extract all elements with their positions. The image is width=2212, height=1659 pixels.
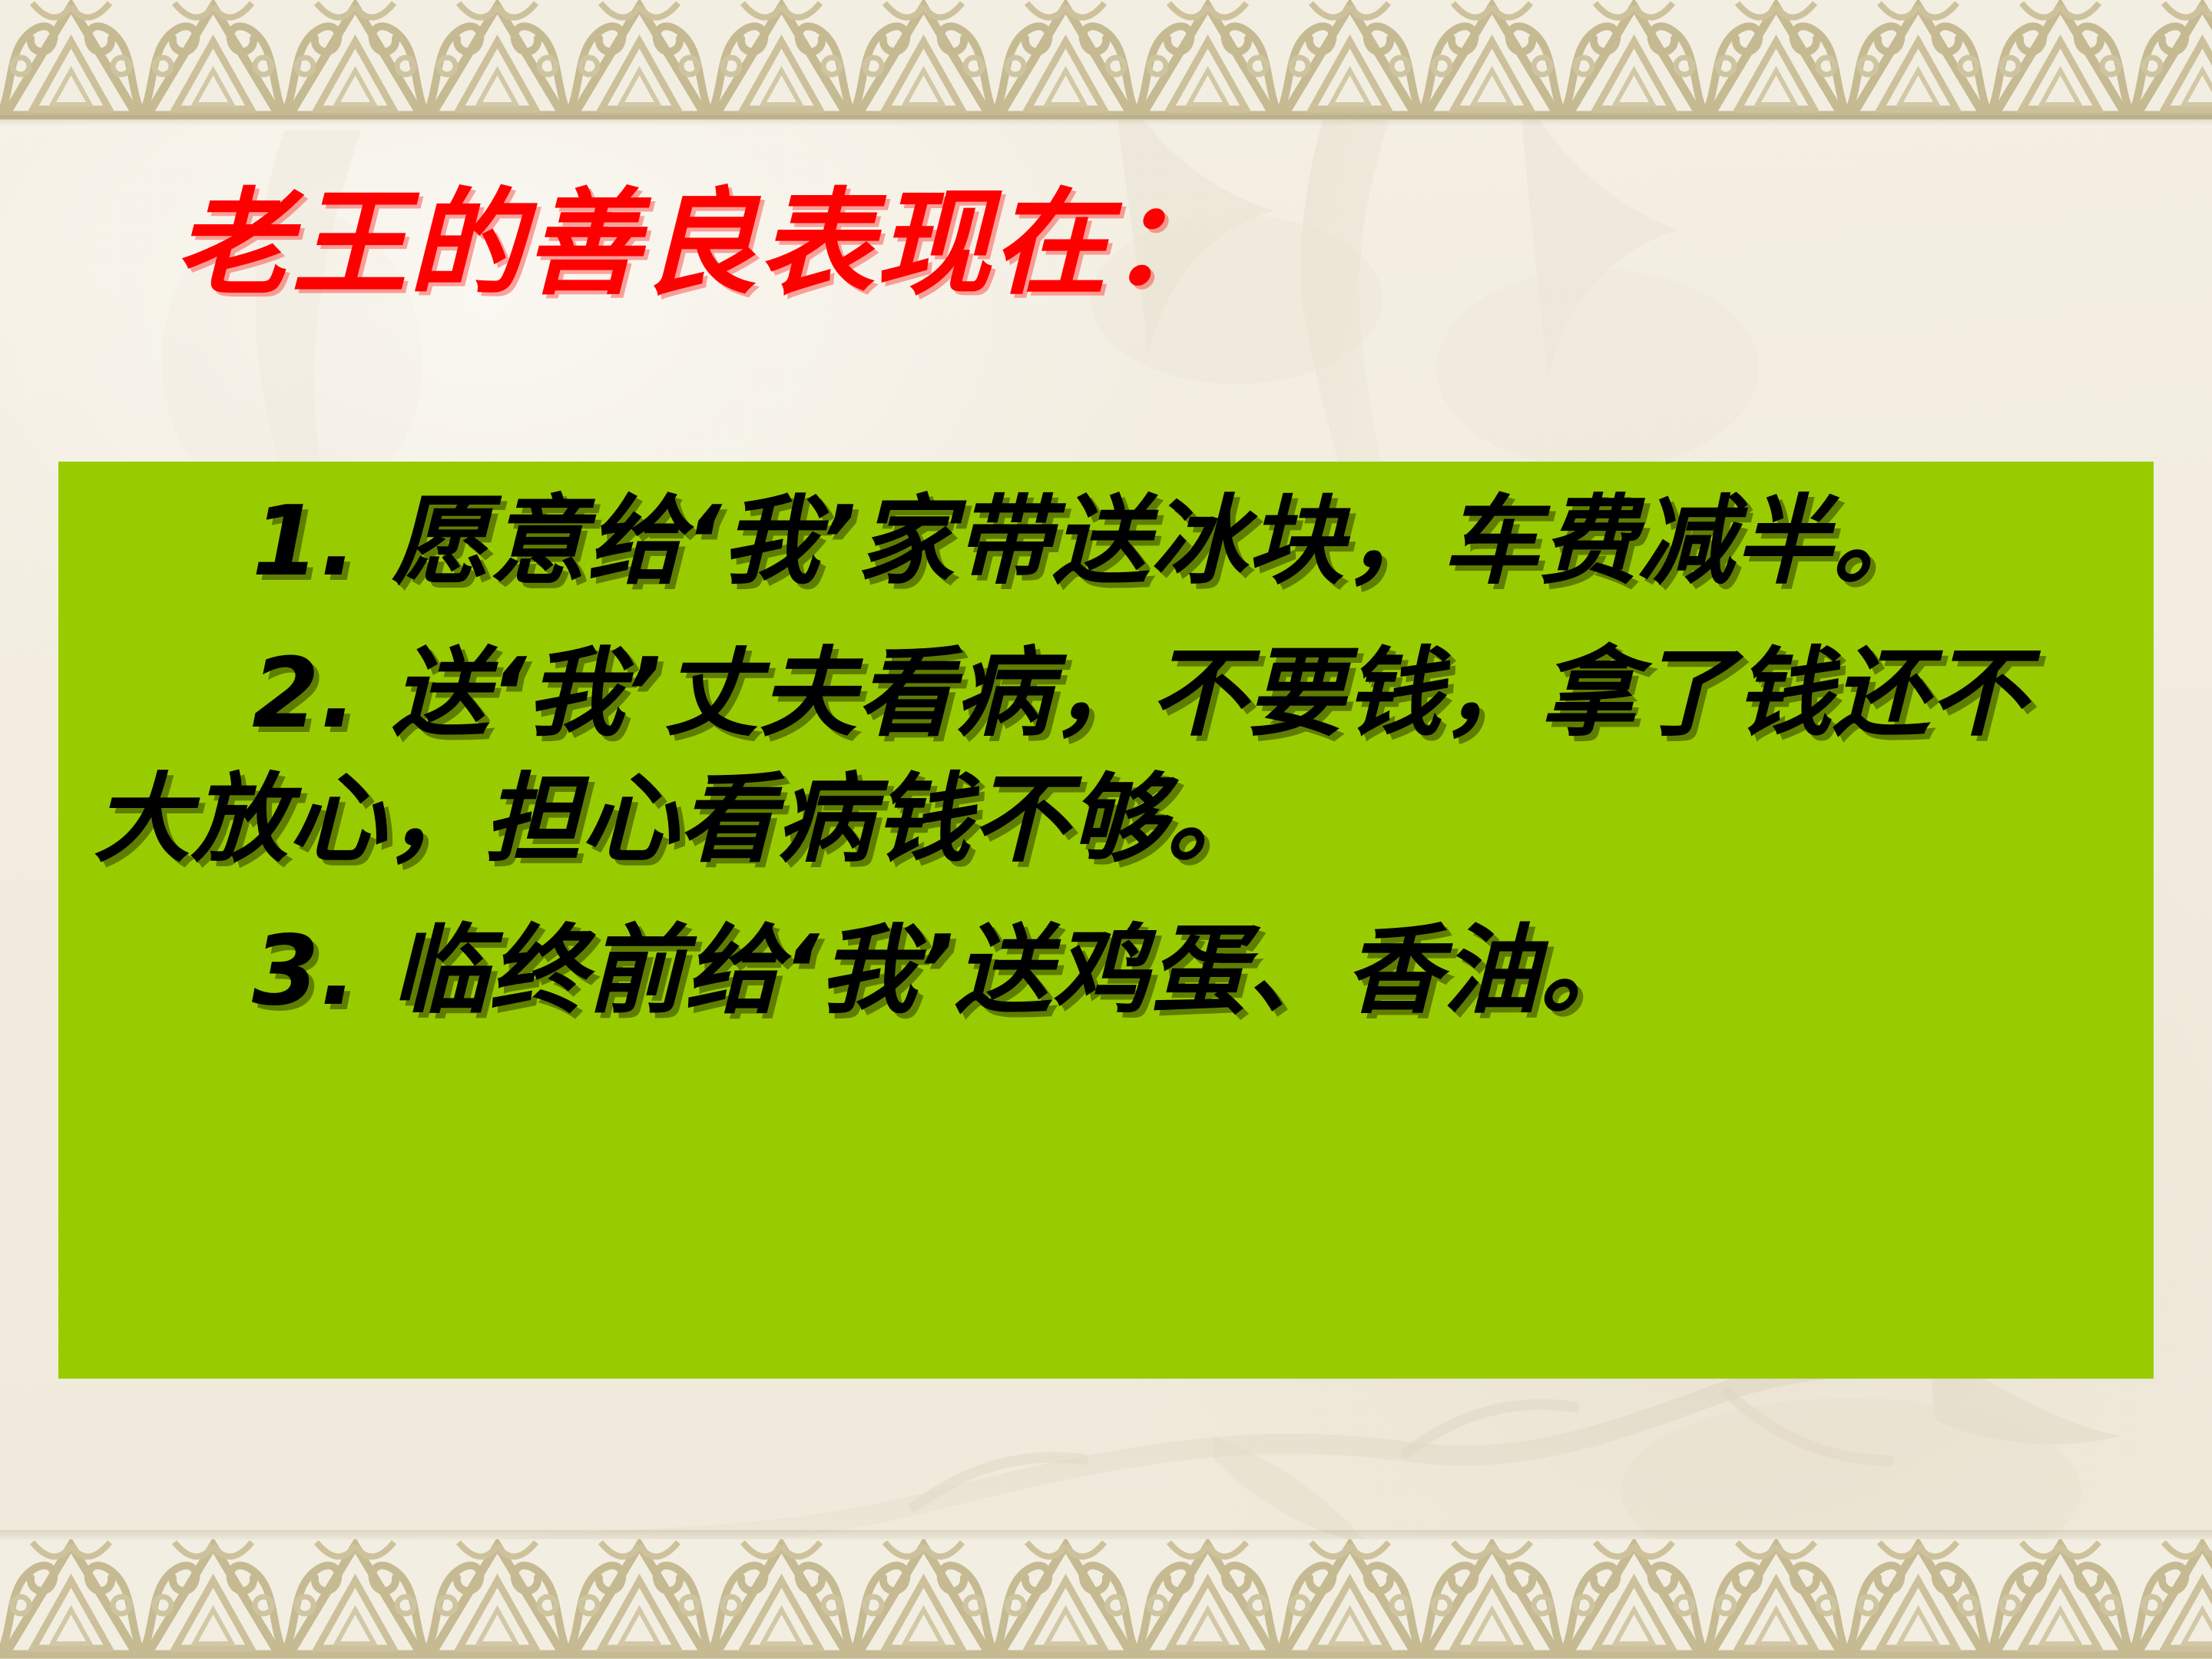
list-item: 2. 送‘我’丈夫看病，不要钱，拿了钱还不大放心，担心看病钱不够。 bbox=[94, 631, 2118, 882]
list-item: 1. 愿意给‘我’家带送冰块，车费减半。 bbox=[94, 478, 2118, 604]
list-item: 3. 临终前给‘我’送鸡蛋、香油。 bbox=[94, 908, 2118, 1034]
green-content-panel: 1. 愿意给‘我’家带送冰块，车费减半。 2. 送‘我’丈夫看病，不要钱，拿了钱… bbox=[58, 462, 2154, 1379]
slide-canvas: 老王的善良表现在： 1. 愿意给‘我’家带送冰块，车费减半。 2. 送‘我’丈夫… bbox=[0, 0, 2212, 1659]
bottom-band-shadow bbox=[0, 1530, 2212, 1541]
top-band-shadow bbox=[0, 115, 2212, 126]
triangular-fret-border-bottom bbox=[0, 1539, 2212, 1659]
triangular-fret-border-top bbox=[0, 0, 2212, 120]
page-title: 老王的善良表现在： bbox=[175, 187, 1226, 302]
